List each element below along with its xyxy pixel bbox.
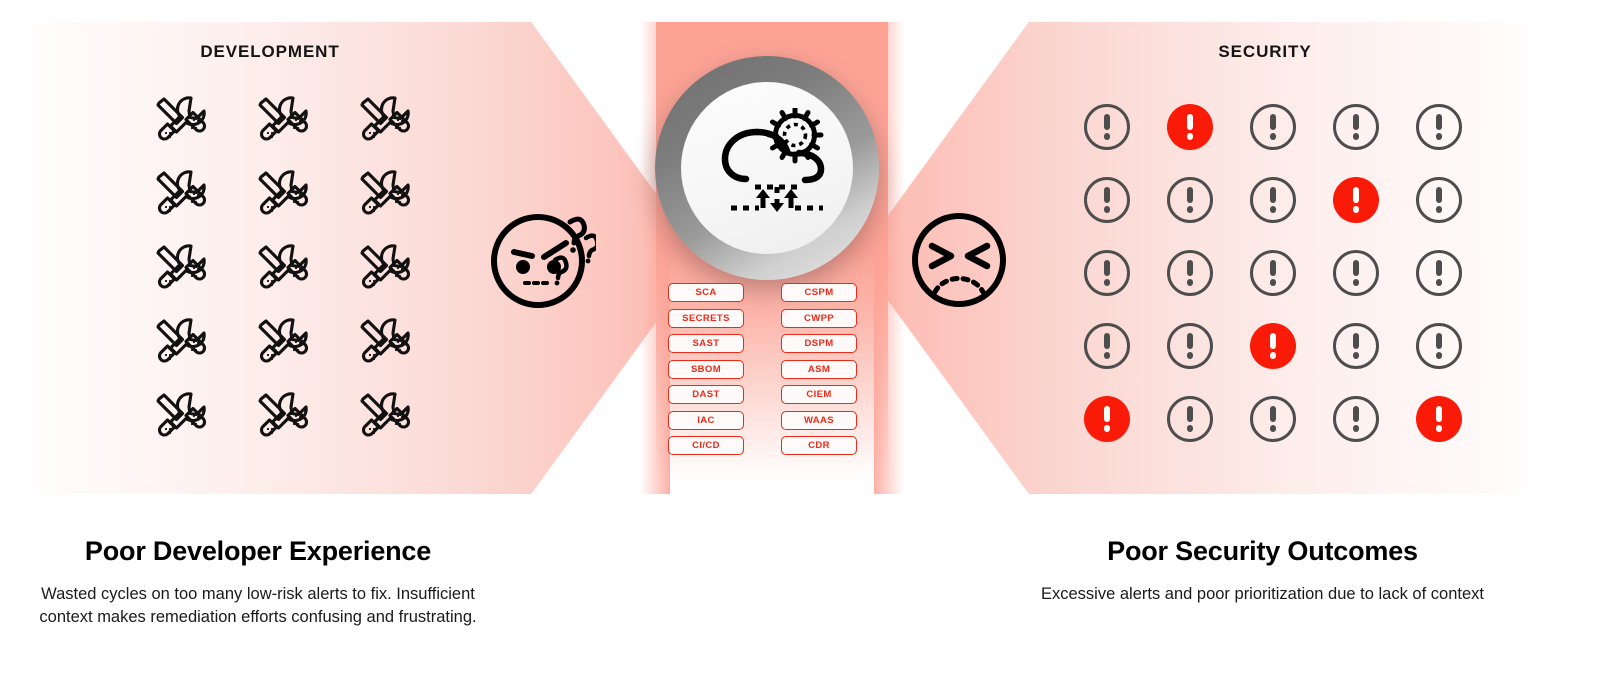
exclamation-circle-icon[interactable] bbox=[1333, 323, 1379, 369]
right-caption-body: Excessive alerts and poor prioritization… bbox=[1035, 583, 1490, 606]
alert-cell bbox=[1065, 236, 1148, 309]
tag-dspm[interactable]: DSPM bbox=[781, 334, 857, 353]
tag-iac[interactable]: IAC bbox=[668, 411, 744, 430]
exclamation-circle-icon[interactable] bbox=[1333, 396, 1379, 442]
wrench-screwdriver-icon bbox=[334, 232, 436, 306]
tag-sca[interactable]: SCA bbox=[668, 283, 744, 302]
tag-ci-cd[interactable]: CI/CD bbox=[668, 436, 744, 455]
exclamation-circle-icon[interactable] bbox=[1084, 177, 1130, 223]
alert-cell bbox=[1231, 163, 1314, 236]
alert-cell bbox=[1065, 309, 1148, 382]
wrench-screwdriver-icon bbox=[130, 158, 232, 232]
tag-ciem[interactable]: CIEM bbox=[781, 385, 857, 404]
exclamation-circle-icon[interactable] bbox=[1250, 104, 1296, 150]
alert-cell bbox=[1397, 163, 1480, 236]
tag-cspm[interactable]: CSPM bbox=[781, 283, 857, 302]
alert-cell bbox=[1397, 236, 1480, 309]
development-header: DEVELOPMENT bbox=[160, 42, 380, 62]
alert-cell bbox=[1314, 309, 1397, 382]
cloud-gear-sync-badge bbox=[655, 56, 879, 280]
development-tools-grid bbox=[130, 84, 436, 454]
wrench-screwdriver-icon bbox=[334, 158, 436, 232]
tag-asm[interactable]: ASM bbox=[781, 360, 857, 379]
alert-cell bbox=[1065, 163, 1148, 236]
wrench-screwdriver-icon bbox=[130, 84, 232, 158]
tag-waas[interactable]: WAAS bbox=[781, 411, 857, 430]
wrench-screwdriver-icon bbox=[232, 232, 334, 306]
wrench-screwdriver-icon bbox=[232, 84, 334, 158]
alert-cell bbox=[1314, 163, 1397, 236]
security-header: SECURITY bbox=[1155, 42, 1375, 62]
tag-cdr[interactable]: CDR bbox=[781, 436, 857, 455]
alert-cell bbox=[1231, 382, 1314, 455]
alert-cell bbox=[1231, 236, 1314, 309]
wrench-screwdriver-icon bbox=[334, 84, 436, 158]
exclamation-circle-icon[interactable] bbox=[1416, 177, 1462, 223]
security-alerts-grid bbox=[1065, 90, 1480, 455]
cloud-security-tag-list: CSPMCWPPDSPMASMCIEMWAASCDR bbox=[781, 283, 857, 455]
alert-cell bbox=[1148, 236, 1231, 309]
alert-cell bbox=[1397, 309, 1480, 382]
neck-fade-left bbox=[640, 22, 670, 494]
dev-security-tag-list: SCASECRETSSASTSBOMDASTIACCI/CD bbox=[668, 283, 744, 455]
wrench-screwdriver-icon bbox=[232, 158, 334, 232]
badge-inner-circle bbox=[681, 82, 853, 254]
wrench-screwdriver-icon bbox=[130, 232, 232, 306]
alert-cell bbox=[1314, 236, 1397, 309]
exclamation-circle-filled-icon[interactable] bbox=[1333, 177, 1379, 223]
confused-angry-face-icon bbox=[486, 204, 596, 319]
left-caption-body: Wasted cycles on too many low-risk alert… bbox=[28, 583, 488, 629]
tag-cwpp[interactable]: CWPP bbox=[781, 309, 857, 328]
wrench-screwdriver-icon bbox=[130, 380, 232, 454]
infographic-canvas: DEVELOPMENT SECURITY bbox=[0, 0, 1600, 687]
alert-cell bbox=[1148, 90, 1231, 163]
wrench-screwdriver-icon bbox=[232, 380, 334, 454]
tag-sbom[interactable]: SBOM bbox=[668, 360, 744, 379]
wrench-screwdriver-icon bbox=[334, 380, 436, 454]
alert-cell bbox=[1065, 382, 1148, 455]
exclamation-circle-icon[interactable] bbox=[1416, 250, 1462, 296]
exclamation-circle-icon[interactable] bbox=[1416, 104, 1462, 150]
tag-secrets[interactable]: SECRETS bbox=[668, 309, 744, 328]
cloud-gear-sync-icon bbox=[701, 108, 833, 228]
exclamation-circle-icon[interactable] bbox=[1250, 177, 1296, 223]
exclamation-circle-filled-icon[interactable] bbox=[1084, 396, 1130, 442]
alert-cell bbox=[1314, 90, 1397, 163]
alert-cell bbox=[1397, 90, 1480, 163]
right-caption-title: Poor Security Outcomes bbox=[1035, 536, 1490, 567]
neck-fade-right bbox=[874, 22, 904, 494]
exclamation-circle-icon[interactable] bbox=[1167, 177, 1213, 223]
exclamation-circle-icon[interactable] bbox=[1084, 250, 1130, 296]
tag-sast[interactable]: SAST bbox=[668, 334, 744, 353]
alert-cell bbox=[1148, 309, 1231, 382]
alert-cell bbox=[1065, 90, 1148, 163]
wrench-screwdriver-icon bbox=[334, 306, 436, 380]
exclamation-circle-icon[interactable] bbox=[1333, 104, 1379, 150]
right-caption: Poor Security Outcomes Excessive alerts … bbox=[1035, 536, 1490, 606]
exclamation-circle-icon[interactable] bbox=[1250, 250, 1296, 296]
exclamation-circle-icon[interactable] bbox=[1250, 396, 1296, 442]
exclamation-circle-icon[interactable] bbox=[1167, 250, 1213, 296]
left-caption: Poor Developer Experience Wasted cycles … bbox=[28, 536, 488, 629]
tag-dast[interactable]: DAST bbox=[668, 385, 744, 404]
exclamation-circle-filled-icon[interactable] bbox=[1250, 323, 1296, 369]
exclamation-circle-icon[interactable] bbox=[1084, 104, 1130, 150]
wrench-screwdriver-icon bbox=[232, 306, 334, 380]
alert-cell bbox=[1148, 382, 1231, 455]
exclamation-circle-filled-icon[interactable] bbox=[1416, 396, 1462, 442]
exclamation-circle-icon[interactable] bbox=[1416, 323, 1462, 369]
exclamation-circle-filled-icon[interactable] bbox=[1167, 104, 1213, 150]
exclamation-circle-icon[interactable] bbox=[1167, 396, 1213, 442]
alert-cell bbox=[1397, 382, 1480, 455]
left-caption-title: Poor Developer Experience bbox=[28, 536, 488, 567]
exclamation-circle-icon[interactable] bbox=[1084, 323, 1130, 369]
alert-cell bbox=[1314, 382, 1397, 455]
alert-cell bbox=[1231, 90, 1314, 163]
frustrated-face-icon bbox=[903, 208, 1015, 317]
alert-cell bbox=[1231, 309, 1314, 382]
exclamation-circle-icon[interactable] bbox=[1167, 323, 1213, 369]
wrench-screwdriver-icon bbox=[130, 306, 232, 380]
alert-cell bbox=[1148, 163, 1231, 236]
exclamation-circle-icon[interactable] bbox=[1333, 250, 1379, 296]
